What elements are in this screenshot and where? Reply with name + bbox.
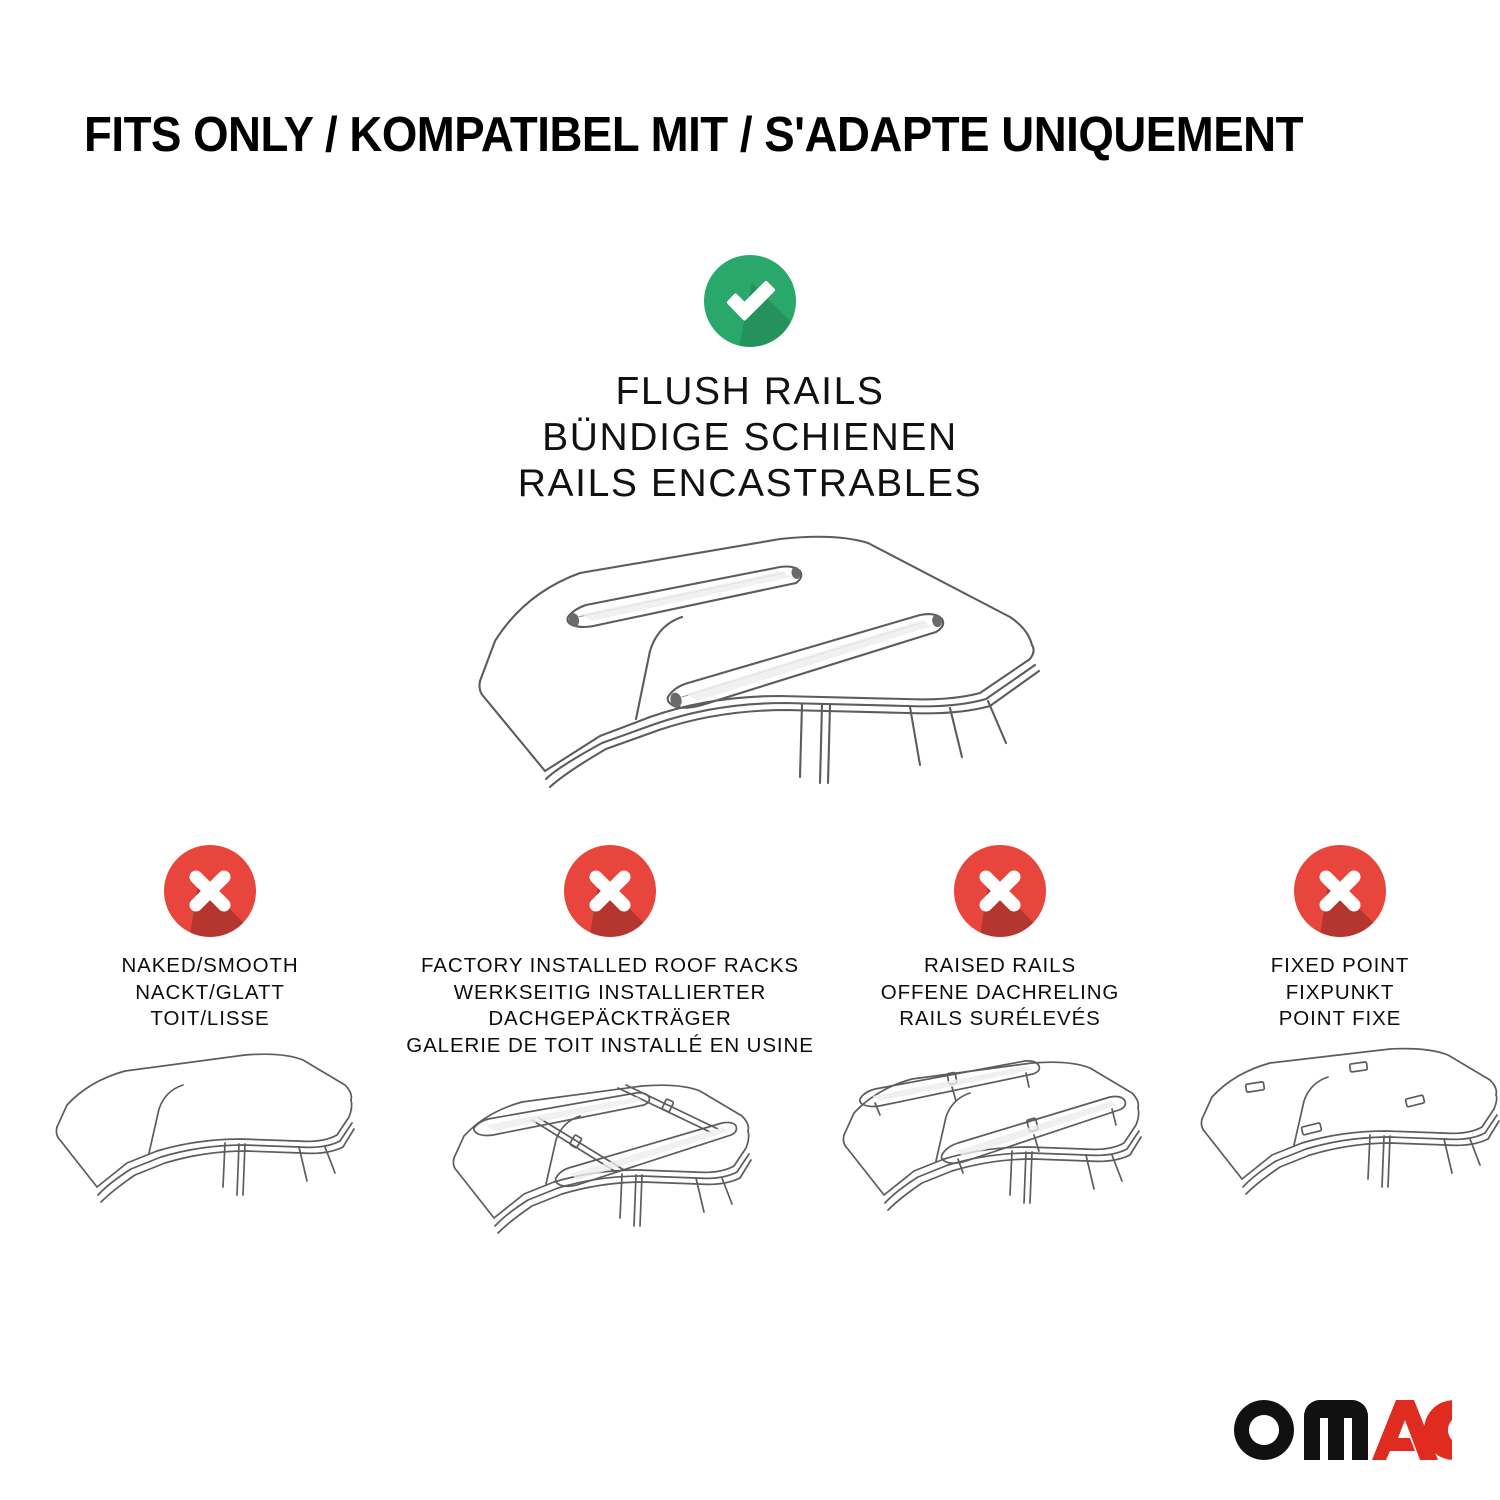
label-de: OFFENE DACHRELING [881, 980, 1120, 1007]
header-banner: FITS ONLY / KOMPATIBEL MIT / S'ADAPTE UN… [84, 104, 1424, 166]
incompatible-item-naked-smooth: NAKED/SMOOTH NACKT/GLATT TOIT/LISSE [20, 845, 400, 1262]
label-fr: POINT FIXE [1271, 1006, 1410, 1033]
car-roof-fixed-point-illustration [1190, 1047, 1490, 1262]
incompatible-labels-raised-rails: RAISED RAILS OFFENE DACHRELING RAILS SUR… [881, 953, 1120, 1033]
label-de-1: WERKSEITIG INSTALLIERTER [406, 980, 814, 1007]
incompatible-labels-fixed-point: FIXED POINT FIXPUNKT POINT FIXE [1271, 953, 1410, 1033]
label-de-2: DACHGEPÄCKTRÄGER [406, 1006, 814, 1033]
label-fr: RAILS SURÉLEVÉS [881, 1006, 1120, 1033]
incompatible-labels-naked-smooth: NAKED/SMOOTH NACKT/GLATT TOIT/LISSE [121, 953, 298, 1033]
label-fr: TOIT/LISSE [121, 1006, 298, 1033]
car-roof-raised-rails-illustration [820, 1047, 1180, 1262]
check-icon [704, 255, 796, 347]
cross-icon [1294, 845, 1386, 937]
incompatible-labels-factory-roof-racks: FACTORY INSTALLED ROOF RACKS WERKSEITIG … [406, 953, 814, 1060]
page-title: FITS ONLY / KOMPATIBEL MIT / S'ADAPTE UN… [84, 107, 1303, 163]
cross-icon [564, 845, 656, 937]
incompatible-item-raised-rails: RAISED RAILS OFFENE DACHRELING RAILS SUR… [820, 845, 1180, 1262]
incompatible-section: NAKED/SMOOTH NACKT/GLATT TOIT/LISSE [0, 845, 1500, 1289]
cross-icon [164, 845, 256, 937]
incompatible-item-fixed-point: FIXED POINT FIXPUNKT POINT FIXE [1190, 845, 1490, 1262]
label-en: FACTORY INSTALLED ROOF RACKS [406, 953, 814, 980]
label-en: RAISED RAILS [881, 953, 1120, 980]
cross-icon [954, 845, 1046, 937]
compatible-section: FLUSH RAILS BÜNDIGE SCHIENEN RAILS ENCAS… [0, 255, 1500, 811]
compatible-label-de: BÜNDIGE SCHIENEN [518, 415, 982, 461]
incompatible-item-factory-roof-racks: FACTORY INSTALLED ROOF RACKS WERKSEITIG … [400, 845, 820, 1289]
label-en: FIXED POINT [1271, 953, 1410, 980]
compatible-label-en: FLUSH RAILS [518, 369, 982, 415]
compatible-labels: FLUSH RAILS BÜNDIGE SCHIENEN RAILS ENCAS… [518, 369, 982, 507]
car-roof-factory-crossbars-illustration [400, 1074, 820, 1289]
label-de: NACKT/GLATT [121, 980, 298, 1007]
car-roof-bare-illustration [20, 1047, 400, 1262]
compatible-label-fr: RAILS ENCASTRABLES [518, 461, 982, 507]
label-en: NAKED/SMOOTH [121, 953, 298, 980]
car-roof-flush-rails-illustration [450, 521, 1050, 811]
omac-logo: OMAC [1228, 1394, 1452, 1468]
label-fr: GALERIE DE TOIT INSTALLÉ EN USINE [406, 1033, 814, 1060]
label-de: FIXPUNKT [1271, 980, 1410, 1007]
